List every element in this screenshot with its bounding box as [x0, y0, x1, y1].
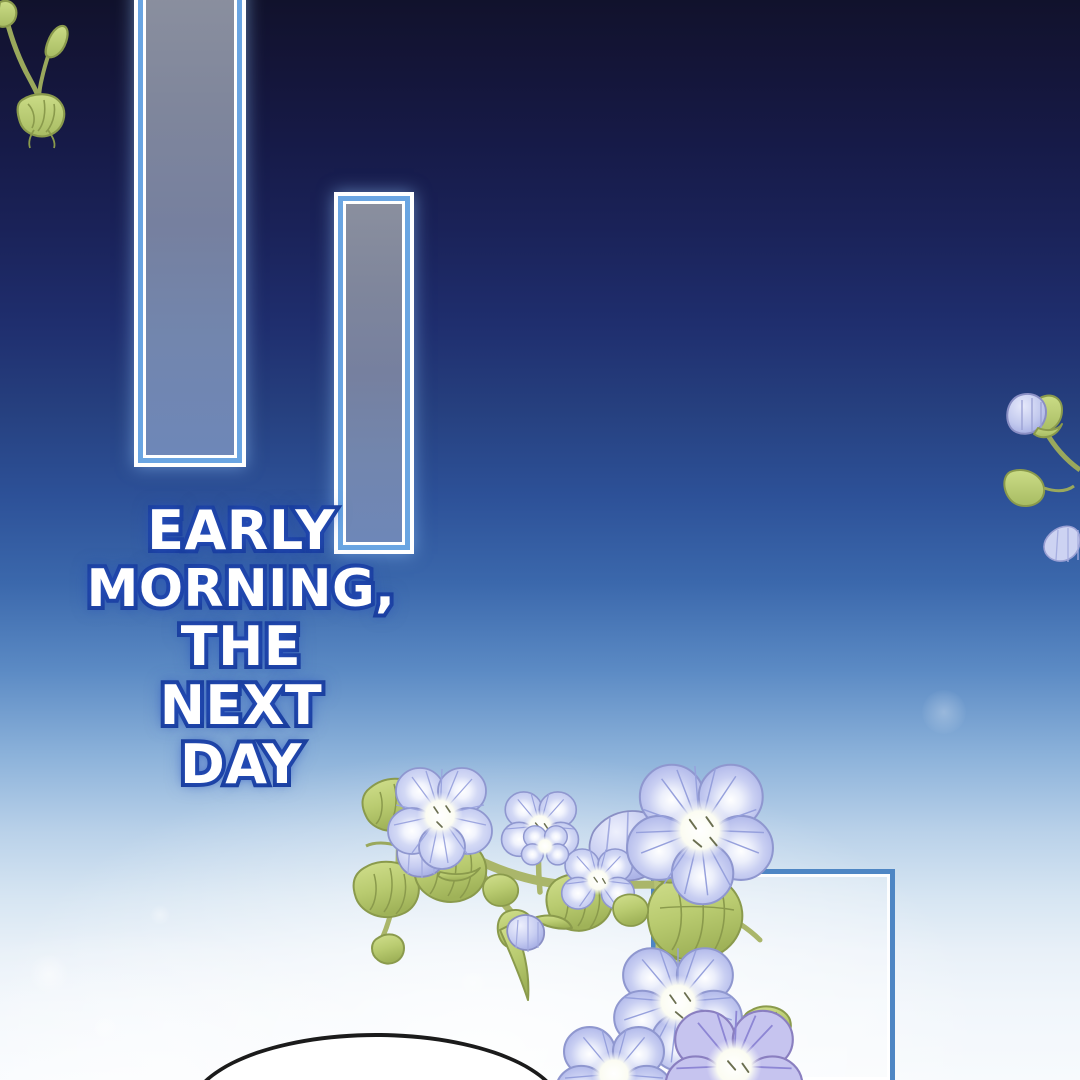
caption-line-4: NEXT: [26, 680, 456, 733]
caption-block: EARLY MORNING, THE NEXT DAY: [26, 505, 456, 798]
caption-line-5: DAY: [26, 739, 456, 792]
decorative-vertical-bar-short: [343, 201, 405, 545]
caption-line-3: THE: [26, 621, 456, 674]
decorative-vertical-bar-tall: [143, 0, 237, 458]
caption-line-2: MORNING,: [26, 564, 456, 615]
comic-panel-canvas: EARLY MORNING, THE NEXT DAY: [0, 0, 1080, 1080]
caption-line-1: EARLY: [26, 505, 456, 558]
inset-panel-frame: [651, 869, 895, 1080]
